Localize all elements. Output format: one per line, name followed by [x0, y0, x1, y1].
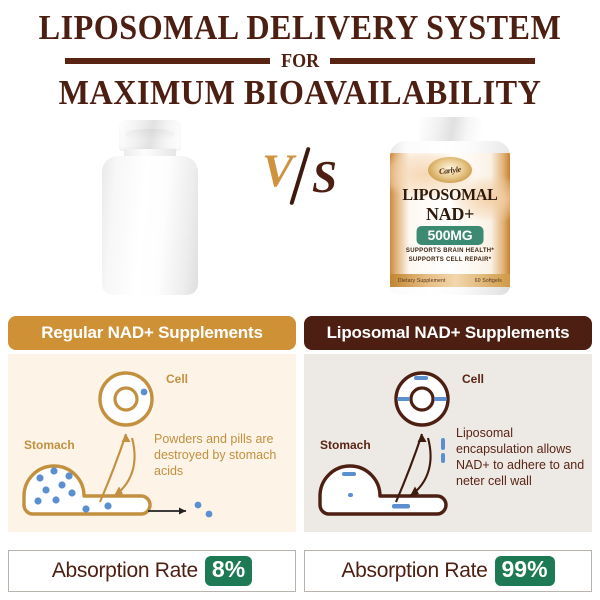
product-bottle-cap — [419, 117, 481, 144]
absorption-path-up — [396, 434, 422, 502]
product-bottle-body: Carlyle LIPOSOMAL NAD+ 500MG SUPPORTS BR… — [390, 141, 510, 295]
brand-name: Carlyle — [439, 165, 462, 176]
label-supplement-type: Dietary Supplement — [398, 278, 446, 284]
label-footer-row: Dietary Supplement 60 Softgels — [398, 278, 502, 284]
particle — [206, 511, 213, 518]
transit-liposomes — [441, 438, 445, 463]
absorption-path-down — [410, 438, 431, 496]
absorption-path-up — [100, 434, 126, 502]
regular-description: Powders and pills are destroyed by stoma… — [154, 431, 286, 479]
absorption-rate-regular: Absorption Rate 8% — [8, 550, 296, 592]
product-bottle-container: Carlyle LIPOSOMAL NAD+ 500MG SUPPORTS BR… — [300, 110, 600, 295]
page-title-line-2: MAXIMUM BIOAVAILABILITY — [24, 75, 576, 111]
page-title-line-1: LIPOSOMAL DELIVERY SYSTEM — [24, 10, 576, 46]
label-product-name-line-2: NAD+ — [390, 204, 510, 225]
panel-liposomal-heading: Liposomal NAD+ Supplements — [304, 316, 592, 350]
absorption-rate-label: Absorption Rate — [341, 559, 487, 583]
absorption-path-down — [114, 438, 135, 496]
panel-liposomal: Liposomal NAD+ Supplements — [304, 316, 592, 600]
label-claim-brain-health: SUPPORTS BRAIN HEALTH* — [390, 248, 510, 254]
divider-rule-left — [65, 58, 270, 64]
stomach-label: Stomach — [24, 438, 75, 452]
for-label: FOR — [281, 50, 319, 73]
panel-liposomal-diagram: Cell Stomach Liposomal encapsulation all… — [304, 354, 592, 532]
divider-rule-right — [330, 58, 535, 64]
absorption-rate-value: 8% — [205, 556, 252, 585]
page-header: LIPOSOMAL DELIVERY SYSTEM FOR MAXIMUM BI… — [0, 0, 600, 110]
label-product-name-line-1: LIPOSOMAL — [394, 185, 507, 205]
versus-s-letter: S — [312, 155, 337, 200]
cell-label: Cell — [462, 372, 484, 386]
panel-regular-diagram: Cell Stomach Powders and pills are destr… — [8, 354, 296, 532]
liposomal-description: Liposomal encapsulation allows NAD+ to a… — [456, 425, 588, 489]
cell-label: Cell — [166, 372, 188, 386]
panel-regular-heading: Regular NAD+ Supplements — [8, 316, 296, 350]
particle — [141, 389, 148, 396]
bottle-body — [102, 156, 198, 295]
bottle-cap — [119, 120, 181, 151]
arrow-head-up-icon — [418, 434, 427, 442]
panel-regular: Regular NAD+ Supplements — [8, 316, 296, 600]
label-claim-cell-repair: SUPPORTS CELL REPAIR* — [390, 257, 510, 263]
product-label: Carlyle LIPOSOMAL NAD+ 500MG SUPPORTS BR… — [390, 153, 510, 287]
brand-logo-icon: Carlyle — [428, 157, 472, 183]
absorption-rate-label: Absorption Rate — [52, 559, 198, 583]
arrow-head-up-icon — [122, 434, 131, 442]
versus-badge: V S — [260, 148, 340, 204]
label-dose-badge: 500MG — [417, 226, 484, 245]
label-count: 60 Softgels — [475, 278, 502, 284]
stomach-label: Stomach — [320, 438, 371, 452]
cell-nucleus-icon — [411, 388, 433, 410]
plain-bottle-image — [102, 120, 198, 295]
versus-v-letter: V — [262, 148, 293, 195]
excretion-arrow-head-icon — [179, 508, 186, 515]
comparison-panels: Regular NAD+ Supplements — [0, 316, 600, 600]
for-divider-row: FOR — [20, 50, 580, 73]
product-bottle-image: Carlyle LIPOSOMAL NAD+ 500MG SUPPORTS BR… — [390, 117, 510, 295]
absorption-rate-value: 99% — [495, 556, 555, 585]
plain-bottle-container — [0, 110, 300, 295]
product-comparison-row: Carlyle LIPOSOMAL NAD+ 500MG SUPPORTS BR… — [0, 110, 600, 295]
particle — [195, 502, 202, 509]
absorption-rate-liposomal: Absorption Rate 99% — [304, 550, 592, 592]
cell-nucleus-icon — [115, 388, 137, 410]
